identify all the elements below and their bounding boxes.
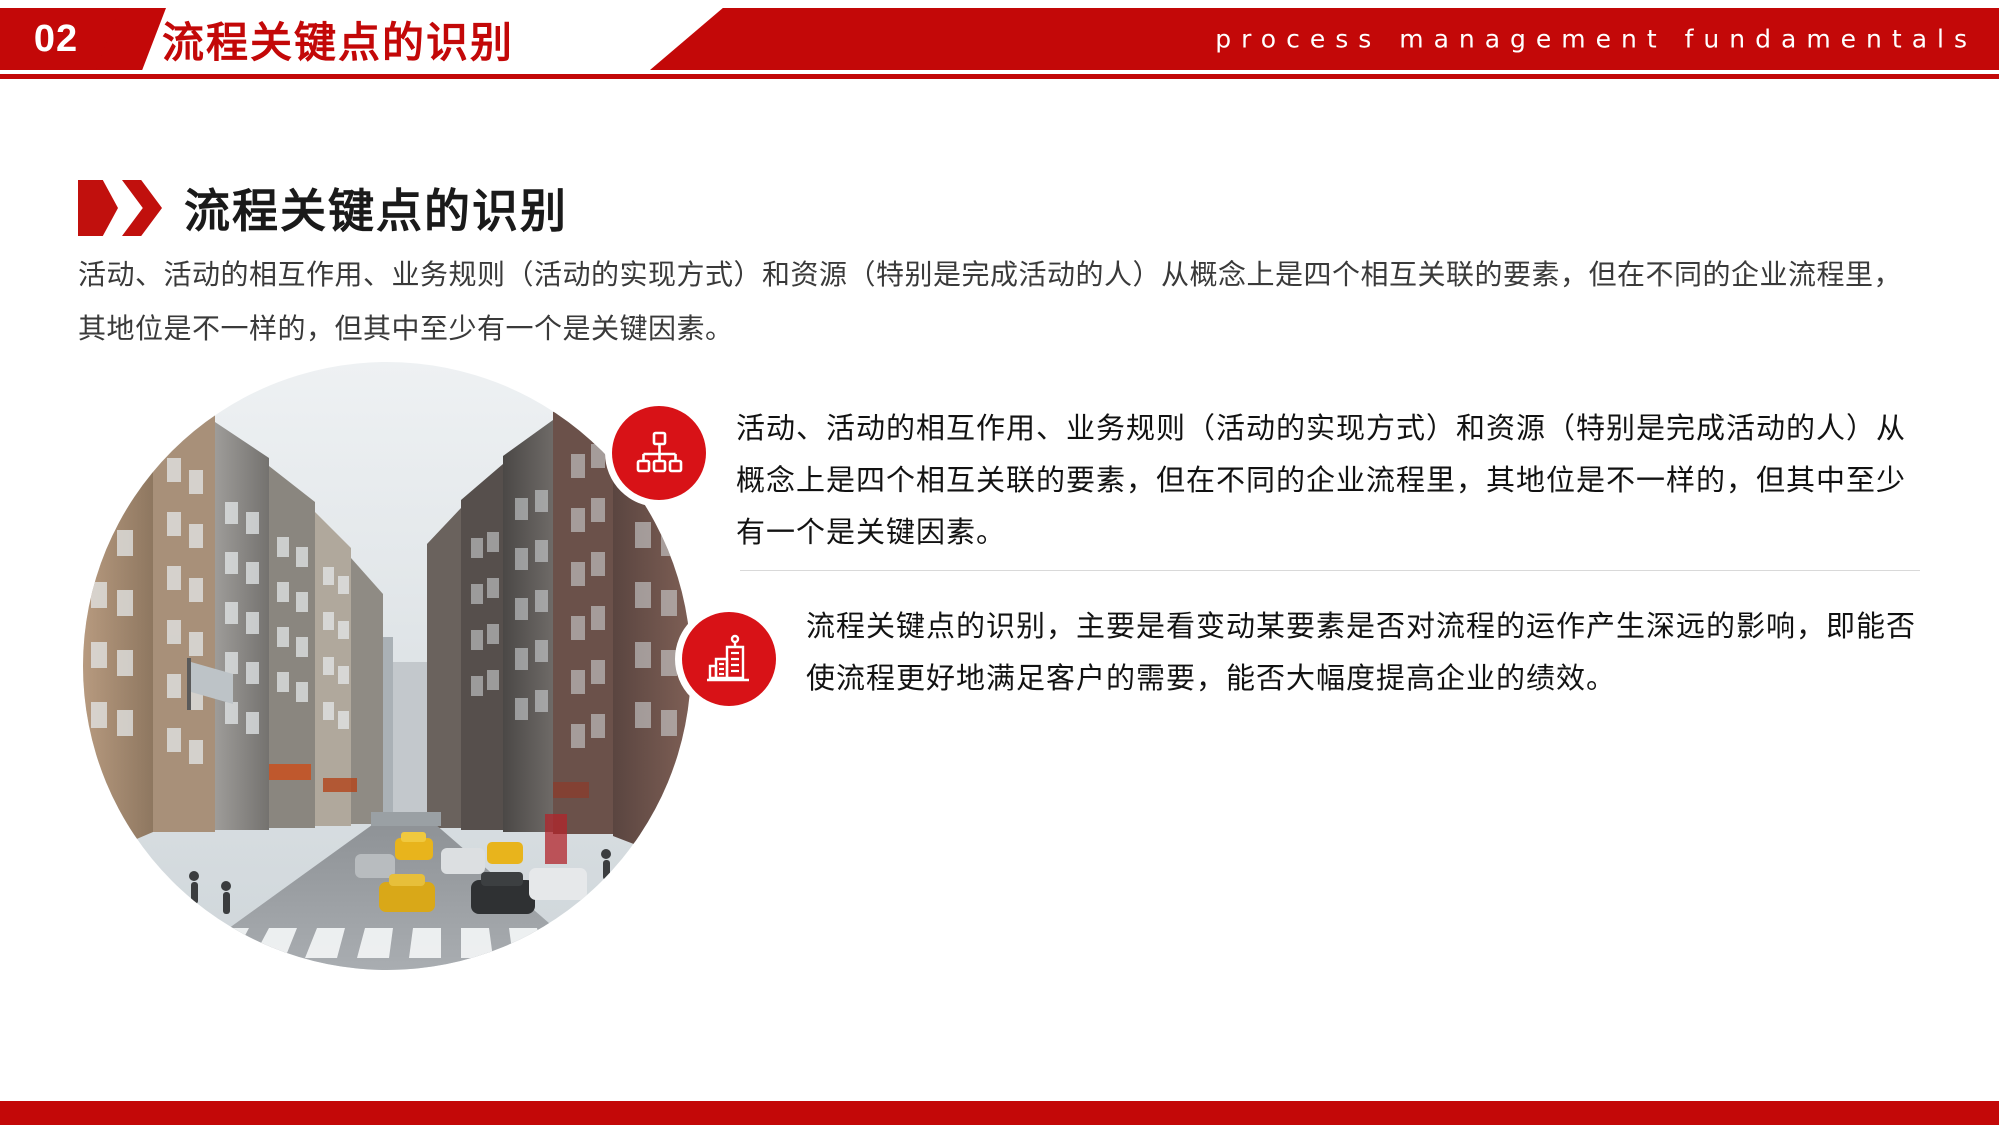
list-item-text: 活动、活动的相互作用、业务规则（活动的实现方式）和资源（特别是完成活动的人）从概… <box>736 400 1922 558</box>
double-chevron-right-icon <box>78 180 162 236</box>
intro-paragraph: 活动、活动的相互作用、业务规则（活动的实现方式）和资源（特别是完成活动的人）从概… <box>78 248 1923 356</box>
header-title: 流程关键点的识别 <box>162 8 514 70</box>
list-item: 活动、活动的相互作用、业务规则（活动的实现方式）和资源（特别是完成活动的人）从概… <box>612 400 1922 558</box>
header-rule <box>0 74 1999 79</box>
org-chart-icon <box>612 406 706 500</box>
slide-header: 02 流程关键点的识别 process management fundament… <box>0 0 1999 78</box>
city-photo <box>83 362 691 970</box>
section-heading: 流程关键点的识别 <box>78 175 568 241</box>
header-number: 02 <box>34 18 78 61</box>
header-band-label: process management fundamentals <box>1215 25 1977 54</box>
section-divider <box>740 570 1920 571</box>
header-band-shape: process management fundamentals <box>650 8 1999 70</box>
footer-accent-bar <box>0 1101 1999 1125</box>
list-item: 流程关键点的识别，主要是看变动某要素是否对流程的运作产生深远的影响，即能否使流程… <box>682 598 1922 706</box>
list-item-text: 流程关键点的识别，主要是看变动某要素是否对流程的运作产生深远的影响，即能否使流程… <box>806 598 1922 704</box>
city-photo-illustration <box>83 362 691 970</box>
city-buildings-icon <box>682 612 776 706</box>
page-title: 流程关键点的识别 <box>184 175 568 241</box>
